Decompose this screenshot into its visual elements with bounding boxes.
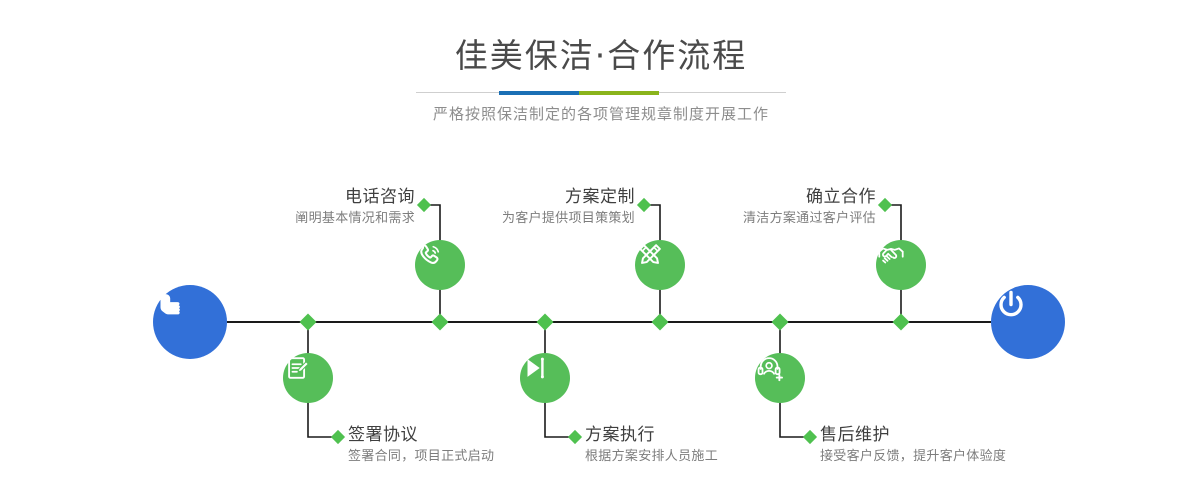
pointing-hand-icon — [153, 285, 193, 325]
step-title-5: 确立合作 — [590, 186, 876, 209]
step-title-6: 售后维护 — [820, 424, 1180, 447]
step-icon-2[interactable] — [283, 353, 333, 403]
step-icon-5[interactable] — [876, 240, 926, 290]
play-execute-icon — [520, 353, 550, 383]
label-diamond-step-2 — [331, 430, 345, 444]
step-icon-1[interactable] — [415, 240, 465, 290]
step-label-5: 确立合作 清洁方案通过客户评估 — [590, 186, 876, 229]
document-edit-icon — [283, 353, 313, 383]
timeline-diamond-1 — [300, 314, 317, 331]
step-icon-3[interactable] — [635, 240, 685, 290]
step-icon-4[interactable] — [520, 353, 570, 403]
timeline-diamond-5 — [772, 314, 789, 331]
flow-infographic-page: 佳美保洁·合作流程 严格按照保洁制定的各项管理规章制度开展工作 — [0, 0, 1202, 502]
process-flow-diagram: 电话咨询 阐明基本情况和需求 签署协议 签署合同，项目正式启动 — [0, 0, 1202, 502]
step-label-6: 售后维护 接受客户反馈，提升客户体验度 — [820, 424, 1180, 467]
step-desc-6: 接受客户反馈，提升客户体验度 — [820, 447, 1180, 467]
phone-call-icon — [415, 240, 445, 270]
timeline-diamond-3 — [537, 314, 554, 331]
flow-start-node[interactable] — [153, 285, 227, 359]
step-desc-5: 清洁方案通过客户评估 — [590, 209, 876, 229]
power-icon — [991, 285, 1031, 325]
handshake-icon — [876, 240, 906, 270]
timeline-diamond-4 — [652, 314, 669, 331]
flow-end-node[interactable] — [991, 285, 1065, 359]
label-diamond-step-5 — [878, 198, 892, 212]
step-icon-6[interactable] — [755, 353, 805, 403]
pencil-design-icon — [635, 240, 665, 270]
timeline-diamond-2 — [432, 314, 449, 331]
timeline-diamond-6 — [893, 314, 910, 331]
customer-service-icon — [755, 353, 785, 383]
